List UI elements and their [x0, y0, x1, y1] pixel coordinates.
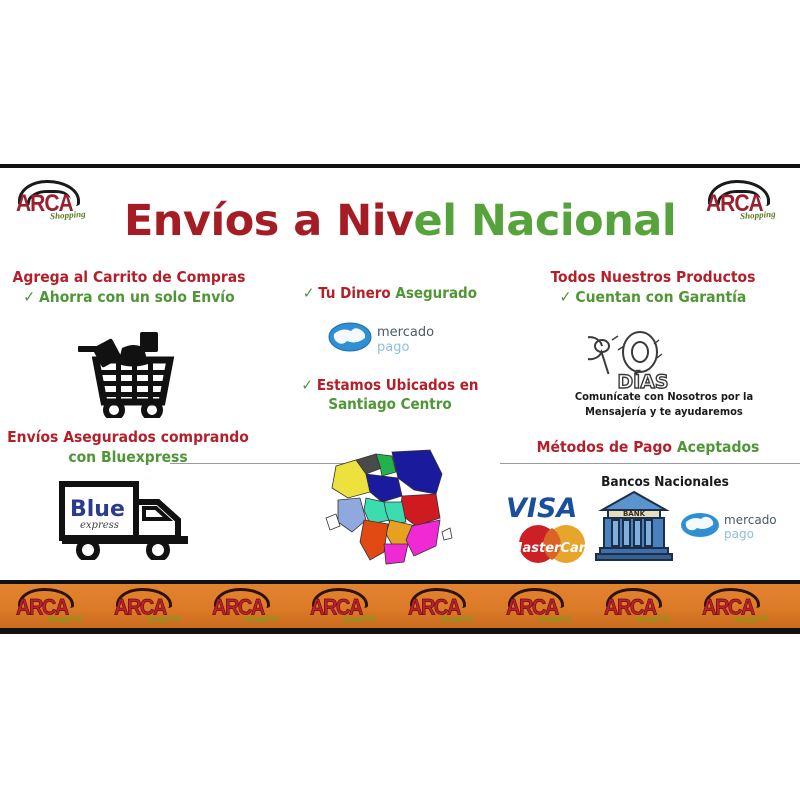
footer-arca-logo: ARCAShopping [604, 588, 678, 626]
feature-warranty-heading: Todos Nuestros Productos ✓Cuentan con Ga… [528, 268, 778, 308]
visa-wordmark: VISA [506, 493, 577, 524]
map-region-lightblue [338, 498, 366, 532]
visa-logo: VISA [504, 490, 600, 524]
truck-logo-sub: express [80, 520, 119, 531]
footer-arca-tagline: Shopping [146, 612, 180, 625]
footer-arca-tagline: Shopping [440, 612, 474, 625]
feature-payments-text-green: Aceptados [677, 438, 759, 456]
footer-arca-logo: ARCAShopping [212, 588, 286, 626]
feature-money-text-red: Tu Dinero [318, 284, 390, 302]
banner-title: Envíos a Nivel Nacional [0, 196, 800, 246]
footer-arca-logo: ARCAShopping [408, 588, 482, 626]
feature-location-line2: Santiago Centro [282, 395, 498, 414]
svg-text:pago: pago [724, 527, 754, 541]
delivery-truck-icon: Blue express [58, 478, 212, 560]
footer-arca-tagline: Shopping [538, 612, 572, 625]
feature-cart-line1: Agrega al Carrito de Compras [4, 268, 254, 288]
footer-arca-tagline: Shopping [48, 612, 82, 625]
feature-cart-heading: Agrega al Carrito de Compras ✓Ahorra con… [4, 268, 254, 308]
connector-line-right [500, 463, 800, 464]
feature-cart-line2-row: ✓Ahorra con un solo Envío [4, 288, 254, 308]
footer-arca-tagline: Shopping [636, 612, 670, 625]
payments-subtitle: Bancos Nacionales [540, 474, 790, 490]
map-region-navy2 [366, 474, 402, 502]
badge-unit-text: DÍAS [617, 370, 668, 392]
feature-location-line1-row: ✓Estamos Ubicados en [282, 376, 498, 395]
feature-shipping-line2: con Bluexpress [4, 448, 252, 468]
chile-regions-map [318, 444, 454, 570]
feature-shipping-line1: Envíos Asegurados comprando [4, 428, 252, 448]
bank-icon: BANK [594, 490, 674, 562]
feature-cart-line2: Ahorra con un solo Envío [39, 288, 235, 306]
feature-shipping-heading: Envíos Asegurados comprando con Bluexpre… [4, 428, 252, 468]
warranty-note: Comunícate con Nosotros por la Mensajerí… [540, 390, 788, 420]
feature-warranty-line1: Todos Nuestros Productos [528, 268, 778, 288]
title-part-green: el Nacional [414, 196, 677, 246]
footer-arca-logo: ARCAShopping [310, 588, 384, 626]
warranty-note-line1: Comunícate con Nosotros por la [540, 390, 788, 405]
footer-logo-strip: ARCAShoppingARCAShoppingARCAShoppingARCA… [0, 584, 800, 630]
check-icon: ✓ [560, 288, 572, 306]
shopping-cart-icon [70, 318, 190, 418]
feature-warranty-line2: Cuentan con Garantía [575, 288, 746, 306]
map-island2 [442, 528, 452, 540]
map-region-darkorange [360, 520, 388, 560]
mercado-pago-logo: mercado pago [328, 316, 444, 358]
feature-location-line1: Estamos Ubicados en [317, 376, 479, 394]
check-icon: ✓ [302, 376, 313, 394]
footer-arca-tagline: Shopping [244, 612, 278, 625]
feature-payments-line: Métodos de Pago Aceptados [520, 438, 776, 458]
feature-warranty-line2-row: ✓Cuentan con Garantía [528, 288, 778, 308]
footer-arca-logo: ARCAShopping [114, 588, 188, 626]
warranty-90-days-badge: DÍAS [588, 330, 698, 392]
feature-money-text-green: Asegurado [395, 284, 477, 302]
feature-location-heading: ✓Estamos Ubicados en Santiago Centro [282, 376, 498, 414]
strip-bottom-divider [0, 628, 800, 634]
promotional-banner: ARCA Shopping ARCA Shopping Envíos a Niv… [0, 0, 800, 800]
map-region-magenta2 [384, 544, 408, 564]
footer-arca-logo: ARCAShopping [16, 588, 90, 626]
footer-arca-logo: ARCAShopping [702, 588, 776, 626]
mastercard-logo: MasterCard [504, 524, 600, 564]
check-icon: ✓ [303, 284, 314, 302]
footer-arca-tagline: Shopping [342, 612, 376, 625]
mercado-pago-logo-payment: mercado pago [680, 505, 792, 545]
top-divider [0, 164, 800, 168]
title-part-red: Envíos a Niv [124, 196, 414, 246]
feature-money-line: ✓Tu Dinero Asegurado [280, 284, 500, 303]
mercadopago-line1: mercado [377, 325, 434, 340]
check-icon: ✓ [23, 288, 35, 306]
feature-payments-heading: Métodos de Pago Aceptados [520, 438, 776, 458]
mercadopago-line2: pago [377, 340, 409, 355]
svg-text:mercado: mercado [724, 513, 777, 527]
footer-arca-tagline: Shopping [734, 612, 768, 625]
feature-payments-text-red: Métodos de Pago [537, 438, 672, 456]
footer-arca-logo: ARCAShopping [506, 588, 580, 626]
truck-logo-main: Blue [70, 497, 125, 522]
bank-label: BANK [623, 510, 646, 518]
warranty-note-line2: Mensajería y te ayudaremos [540, 405, 788, 420]
mastercard-wordmark: MasterCard [510, 541, 596, 556]
feature-money-heading: ✓Tu Dinero Asegurado [280, 284, 500, 303]
